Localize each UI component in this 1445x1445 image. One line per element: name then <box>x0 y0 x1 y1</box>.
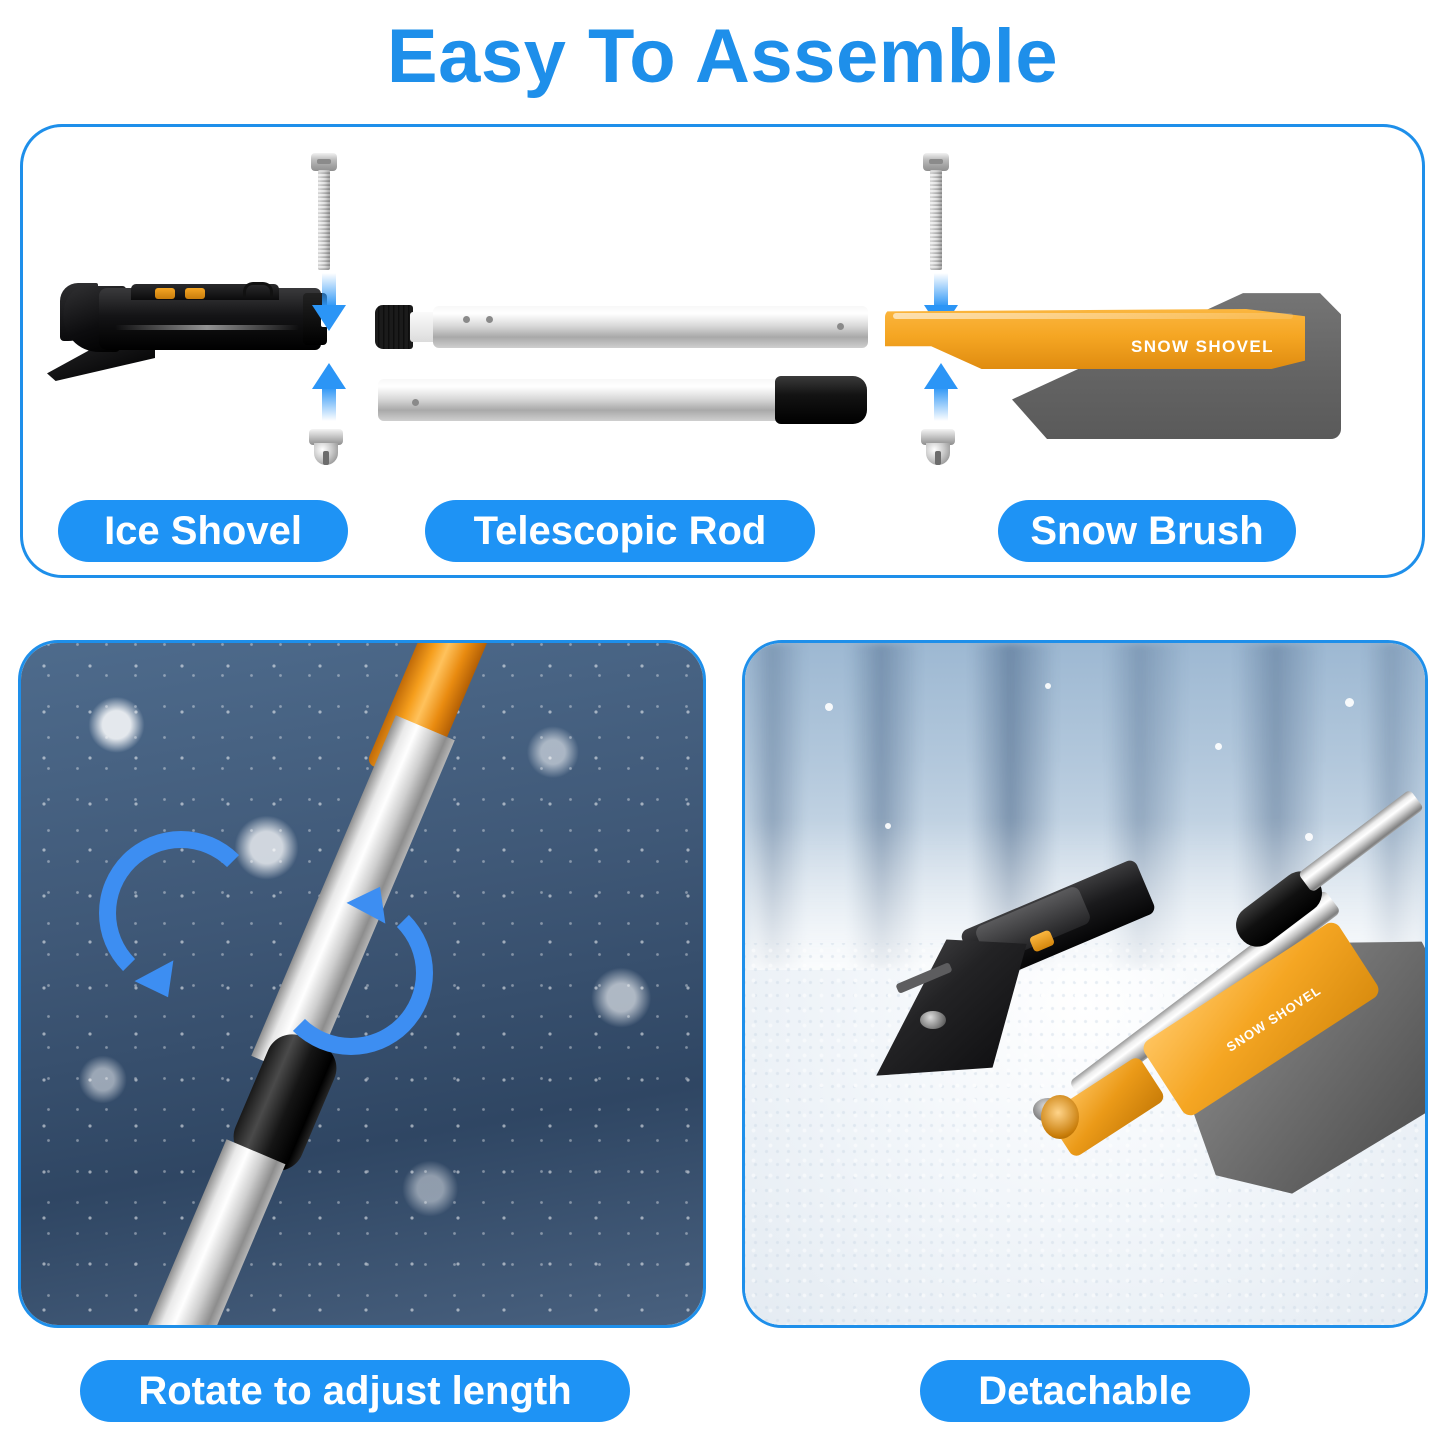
arrow-head <box>312 305 346 331</box>
rod-upper-tube <box>433 306 868 348</box>
nut-slot <box>323 451 329 465</box>
rod-hole <box>412 399 419 406</box>
rotation-arrows-icon-2 <box>269 891 433 1055</box>
scraper-highlight <box>115 325 299 330</box>
screw-shaft <box>930 170 942 270</box>
nut-icon <box>921 429 955 467</box>
rod-knob <box>375 305 413 349</box>
rod-hole <box>486 316 493 323</box>
snowflake <box>885 823 891 829</box>
rod-hole <box>463 316 470 323</box>
arrow-tail <box>934 273 948 307</box>
rotation-ring-left <box>99 831 263 995</box>
rod-end-grip <box>775 376 867 424</box>
scraper-button-2 <box>185 288 205 299</box>
rotation-arrows-icon <box>99 831 263 995</box>
scraper-button-1 <box>155 288 175 299</box>
snowflake <box>1215 743 1222 750</box>
arrow-head <box>312 363 346 389</box>
scraper-lens <box>920 1011 946 1029</box>
rotation-ring-right <box>269 891 433 1055</box>
snowflake <box>825 703 833 711</box>
nut-slot <box>935 451 941 465</box>
shovel-highlight <box>893 313 1293 319</box>
screw-shaft <box>318 170 330 270</box>
arrow-head <box>924 363 958 389</box>
detachable-panel: SNOW SHOVEL <box>742 640 1428 1328</box>
shovel-socket-opening <box>1041 1095 1079 1139</box>
shovel-brand-label: SNOW SHOVEL <box>1131 337 1274 357</box>
label-ice-shovel: Ice Shovel <box>58 500 348 562</box>
rod-hole <box>837 323 844 330</box>
arrow-tail <box>322 387 336 421</box>
rotate-adjust-panel <box>18 640 706 1328</box>
rod-lower-tube <box>378 379 818 421</box>
label-detachable: Detachable <box>920 1360 1250 1422</box>
snowflake <box>1305 833 1313 841</box>
arrow-down-icon <box>312 273 346 333</box>
nut-icon <box>309 429 343 467</box>
snowflake <box>1345 698 1354 707</box>
arrow-up-icon <box>312 363 346 421</box>
snowflake <box>1045 683 1051 689</box>
arrow-tail <box>322 273 336 307</box>
label-snow-brush: Snow Brush <box>998 500 1296 562</box>
label-rotate-to-adjust-length: Rotate to adjust length <box>80 1360 630 1422</box>
screw-head <box>311 153 337 171</box>
infographic-stage: Easy To Assemble <box>0 0 1445 1445</box>
arrow-tail <box>934 387 948 421</box>
label-telescopic-rod: Telescopic Rod <box>425 500 815 562</box>
scraper-clip-hook <box>243 282 273 297</box>
page-title: Easy To Assemble <box>0 14 1445 100</box>
screw-head <box>923 153 949 171</box>
arrow-up-icon <box>924 363 958 421</box>
